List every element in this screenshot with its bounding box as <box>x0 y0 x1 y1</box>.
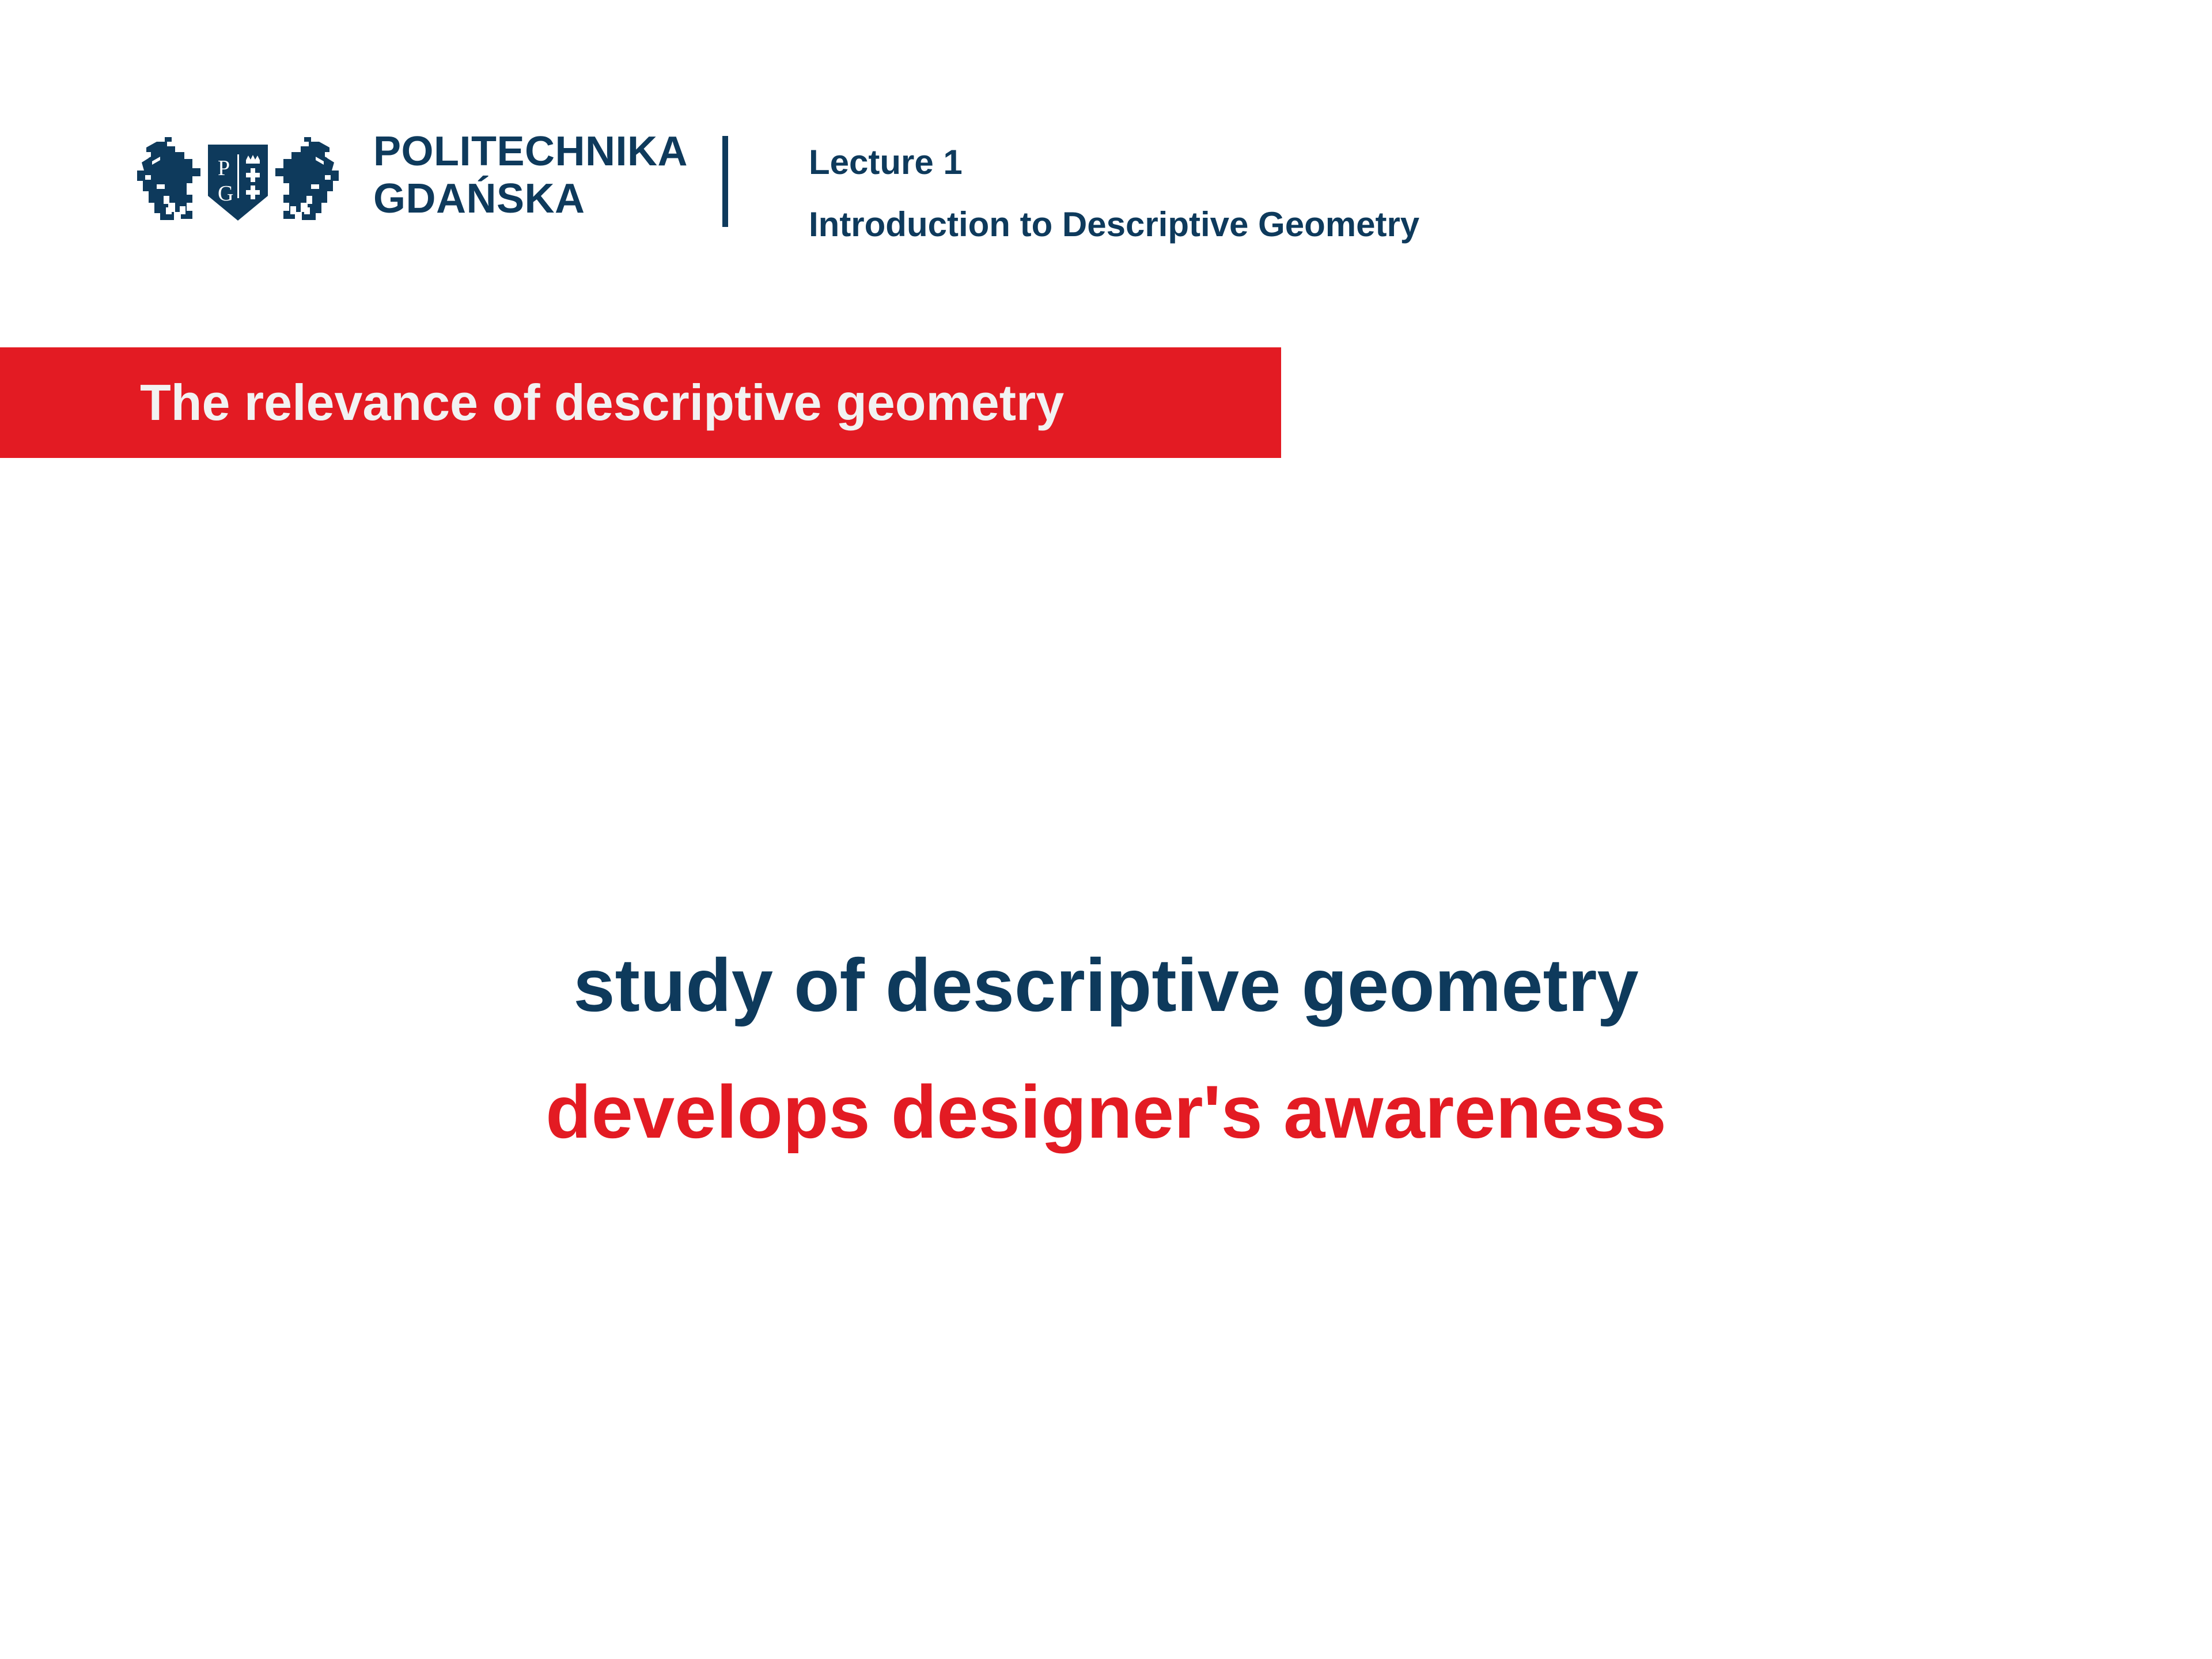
lecture-number: Lecture 1 <box>809 143 963 181</box>
lecture-subtitle: Introduction to Descriptive Geometry <box>809 194 1419 256</box>
section-banner: The relevance of descriptive geometry <box>0 347 1281 458</box>
statement-line-2: develops designer's awareness <box>0 1048 2212 1175</box>
section-banner-title: The relevance of descriptive geometry <box>140 347 1064 458</box>
svg-text:G: G <box>218 181 233 206</box>
statement-line-1: study of descriptive geometry <box>0 922 2212 1048</box>
slide-header: P G POLITECHNIKA GDAŃSKA Lecture 1 <box>0 109 2212 259</box>
statement-block: study of descriptive geometry develops d… <box>0 922 2212 1175</box>
slide-canvas: P G POLITECHNIKA GDAŃSKA Lecture 1 <box>0 0 2212 1659</box>
wordmark-line-1: POLITECHNIKA <box>373 128 688 175</box>
svg-text:P: P <box>218 156 230 180</box>
pg-coat-of-arms-icon: P G <box>131 127 344 242</box>
wordmark-line-2: GDAŃSKA <box>373 175 696 222</box>
header-divider <box>722 136 728 227</box>
university-wordmark: POLITECHNIKA GDAŃSKA <box>373 128 696 222</box>
lecture-title-block: Lecture 1 Introduction to Descriptive Ge… <box>809 131 1419 256</box>
